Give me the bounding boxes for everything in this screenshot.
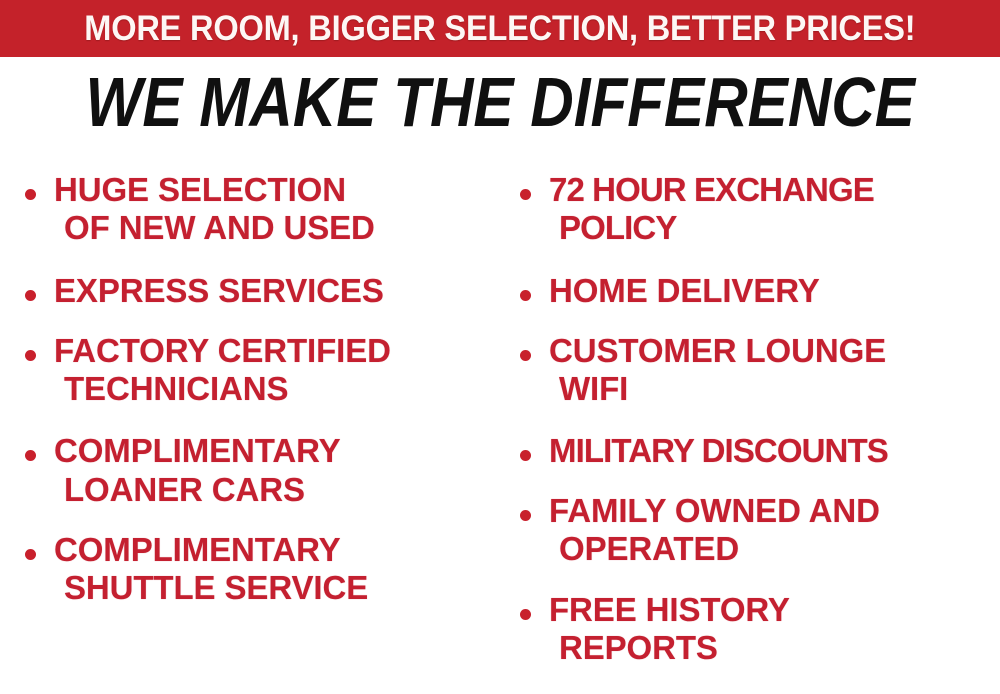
list-item-line-1: COMPLIMENTARY (54, 531, 341, 568)
bullet-dot-icon (520, 510, 531, 521)
bullet-dot-icon (25, 450, 36, 461)
list-item-line-1: 72 HOUR EXCHANGE (549, 171, 874, 208)
list-item-line-2: LOANER CARS (54, 471, 500, 509)
list-item-line-2: POLICY (549, 209, 1000, 247)
list-item-label: CUSTOMER LOUNGEWIFI (547, 332, 1000, 409)
list-item-line-2: WIFI (549, 370, 1000, 408)
list-item: MILITARY DISCOUNTS (509, 432, 1000, 470)
list-item-label: COMPLIMENTARYSHUTTLE SERVICE (52, 531, 500, 608)
list-item-line-1: FREE HISTORY (549, 591, 790, 628)
list-item-line-2: REPORTS (549, 629, 1000, 667)
bullet-dot-icon (520, 189, 531, 200)
list-item-line-1: HOME DELIVERY (549, 272, 820, 309)
list-item-label: 72 HOUR EXCHANGEPOLICY (547, 171, 1000, 248)
bullet-dot-icon (520, 450, 531, 461)
list-item-label: COMPLIMENTARYLOANER CARS (52, 432, 500, 509)
list-item-line-2: OF NEW AND USED (54, 209, 500, 247)
features-column-right: 72 HOUR EXCHANGEPOLICY HOME DELIVERY CUS… (509, 150, 1000, 694)
list-item: CUSTOMER LOUNGEWIFI (509, 332, 1000, 409)
bullet-dot-icon (25, 290, 36, 301)
list-item: HUGE SELECTIONOF NEW AND USED (14, 171, 500, 248)
list-item: FREE HISTORYREPORTS (509, 591, 1000, 668)
bullet-dot-icon (25, 350, 36, 361)
list-item-line-1: MILITARY DISCOUNTS (549, 432, 888, 469)
features-columns: HUGE SELECTIONOF NEW AND USED EXPRESS SE… (0, 150, 1000, 694)
list-item-line-2: OPERATED (549, 530, 1000, 568)
list-item-line-2: TECHNICIANS (54, 370, 500, 408)
headline-row: WE MAKE THE DIFFERENCE (0, 62, 1000, 142)
list-item: FACTORY CERTIFIEDTECHNICIANS (14, 332, 500, 409)
list-item-line-1: CUSTOMER LOUNGE (549, 332, 886, 369)
bullet-dot-icon (520, 290, 531, 301)
list-item-label: HUGE SELECTIONOF NEW AND USED (52, 171, 500, 248)
list-item-line-1: COMPLIMENTARY (54, 432, 341, 469)
bullet-dot-icon (25, 189, 36, 200)
list-item-line-2: SHUTTLE SERVICE (54, 569, 500, 607)
list-item-label: FAMILY OWNED ANDOPERATED (547, 492, 1000, 569)
list-item-label: HOME DELIVERY (547, 272, 1000, 310)
list-item-line-1: FAMILY OWNED AND (549, 492, 880, 529)
list-item: FAMILY OWNED ANDOPERATED (509, 492, 1000, 569)
list-item: 72 HOUR EXCHANGEPOLICY (509, 171, 1000, 248)
list-item: COMPLIMENTARYSHUTTLE SERVICE (14, 531, 500, 608)
list-item-line-1: EXPRESS SERVICES (54, 272, 384, 309)
list-item: HOME DELIVERY (509, 272, 1000, 310)
list-item: EXPRESS SERVICES (14, 272, 500, 310)
list-item-line-1: FACTORY CERTIFIED (54, 332, 391, 369)
list-item: COMPLIMENTARYLOANER CARS (14, 432, 500, 509)
bullet-dot-icon (520, 350, 531, 361)
promo-banner: MORE ROOM, BIGGER SELECTION, BETTER PRIC… (0, 0, 1000, 57)
list-item-label: MILITARY DISCOUNTS (547, 432, 1000, 470)
list-item-label: FACTORY CERTIFIEDTECHNICIANS (52, 332, 500, 409)
bullet-dot-icon (520, 609, 531, 620)
promo-banner-text: MORE ROOM, BIGGER SELECTION, BETTER PRIC… (84, 11, 915, 46)
bullet-dot-icon (25, 549, 36, 560)
page-title: WE MAKE THE DIFFERENCE (85, 67, 914, 137)
features-column-left: HUGE SELECTIONOF NEW AND USED EXPRESS SE… (14, 150, 500, 694)
list-item-label: FREE HISTORYREPORTS (547, 591, 1000, 668)
list-item-line-1: HUGE SELECTION (54, 171, 346, 208)
list-item-label: EXPRESS SERVICES (52, 272, 500, 310)
